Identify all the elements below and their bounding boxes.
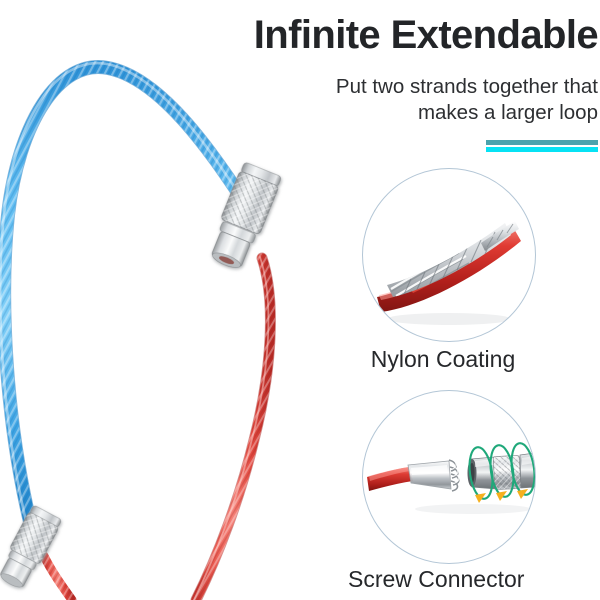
accent-bar-bottom [486,147,598,152]
feature-nylon-circle [362,168,536,342]
feature-nylon-coating: Nylon Coating [362,168,536,342]
feature-nylon-label: Nylon Coating [356,346,530,373]
infographic-canvas: Infinite Extendable Put two strands toge… [0,0,600,600]
subtitle-line-2: makes a larger loop [240,100,598,126]
rotation-arrowheads [475,489,528,503]
subtitle-line-1: Put two strands together that [240,74,598,100]
upper-connector [205,161,283,272]
coated-steel-cable-cutaway-icon [363,169,535,341]
feature-screw-label: Screw Connector [348,566,522,593]
accent-divider [486,140,598,152]
feature-screw-circle [362,390,536,564]
accent-bar-top [486,140,598,145]
threaded-screw-connector-icon [363,391,535,563]
page-title: Infinite Extendable [150,14,598,57]
red-cable-strand [44,257,270,600]
subtitle: Put two strands together that makes a la… [240,74,598,126]
blue-cable-strand [0,63,243,522]
feature-screw-connector: Screw Connector [362,390,536,564]
